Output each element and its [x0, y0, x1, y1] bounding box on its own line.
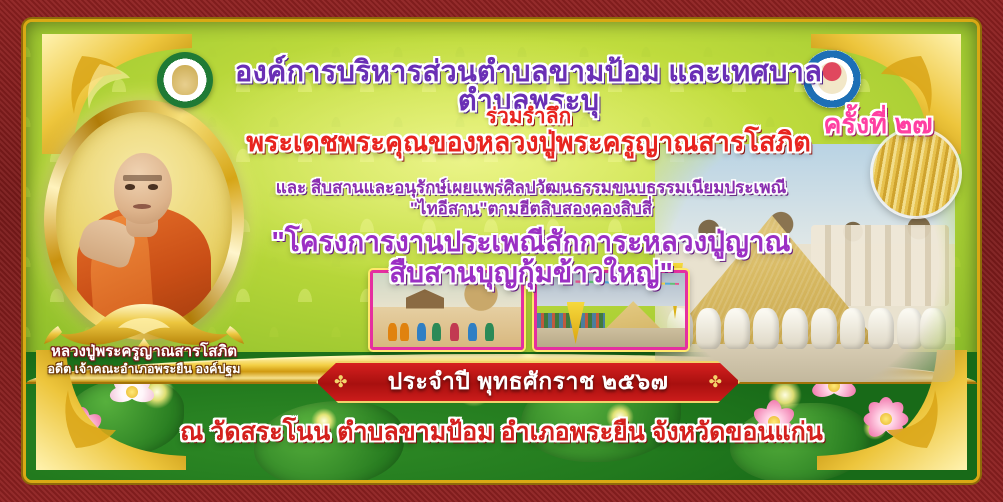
rice-sack-row: [661, 296, 949, 348]
banner-panel: หลวงปู่พระครูญาณสารโสภิต อดีต เจ้าคณะอำเ…: [26, 22, 977, 480]
event-banner: หลวงปู่พระครูญาณสารโสภิต อดีต เจ้าคณะอำเ…: [0, 0, 1003, 502]
subdistrict-administrative-organization-seal-icon: [157, 52, 213, 108]
portrait-role: อดีต เจ้าคณะอำเภอพระยืน องค์ปฐม: [28, 362, 260, 376]
edition-badge: ครั้งที่ ๒๗: [803, 102, 953, 145]
project-title: "โครงการงานประเพณีสักการะหลวงปู่ญาณ สืบส…: [226, 226, 836, 289]
ribbon-right-ornament-icon: ✤: [709, 372, 722, 392]
honoree-title: พระเดชพระคุณของหลวงปู่พระครูญาณสารโสภิต: [206, 128, 851, 156]
year-text: ประจำปี พุทธศักราช ๒๕๖๗: [388, 364, 669, 400]
project-title-line-2: สืบสานบุญกุ้มข้าวใหญ่": [226, 257, 836, 288]
portrait-name: หลวงปู่พระครูญาณสารโสภิต: [28, 344, 260, 361]
year-ribbon: ✤ ประจำปี พุทธศักราช ๒๕๖๗ ✤: [316, 361, 740, 403]
purpose-text: และ สืบสานและอนุรักษ์เผยแพร่ศิลปวัฒนธรรม…: [226, 178, 836, 219]
location-line: ณ วัดสระโนน ตำบลขามป้อม อำเภอพระยืน จังห…: [26, 412, 977, 452]
purpose-line-1: และ สืบสานและอนุรักษ์เผยแพร่ศิลปวัฒนธรรม…: [226, 178, 836, 199]
ribbon-left-ornament-icon: ✤: [334, 372, 347, 392]
purpose-line-2: "ไทอีสาน"ตามฮีตสิบสองคองสิบสี่: [226, 199, 836, 220]
project-title-line-1: "โครงการงานประเพณีสักการะหลวงปู่ญาณ: [226, 226, 836, 257]
portrait-caption: หลวงปู่พระครูญาณสารโสภิต อดีต เจ้าคณะอำเ…: [28, 344, 260, 376]
